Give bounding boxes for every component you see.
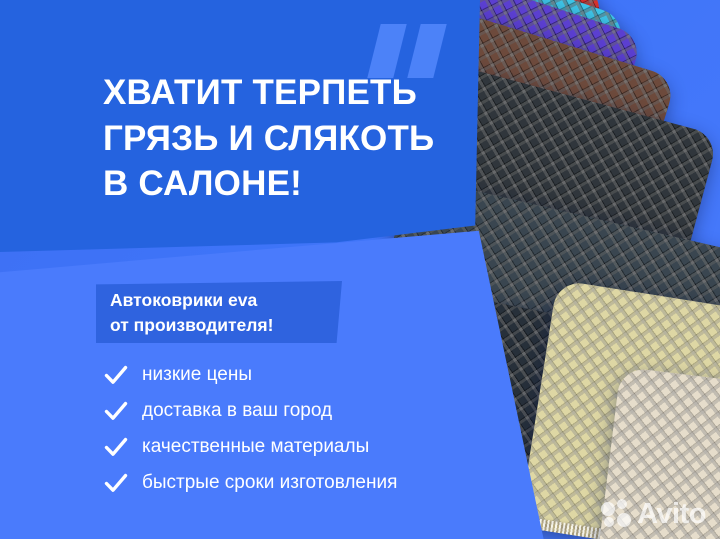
benefit-item: доставка в ваш город: [104, 394, 534, 427]
benefit-item: быстрые сроки изготовления: [104, 466, 534, 499]
subheading-line-1: Автоковрики eva: [110, 288, 340, 313]
benefit-label: качественные материалы: [142, 436, 369, 458]
headline-line-1: ХВАТИТ ТЕРПЕТЬ: [103, 70, 473, 116]
benefit-label: доставка в ваш город: [142, 400, 332, 422]
benefits-list: низкие цены доставка в ваш город качеств…: [104, 358, 534, 502]
check-icon: [104, 436, 128, 458]
subheading-text: Автоковрики eva от производителя!: [110, 288, 340, 338]
check-icon: [104, 364, 128, 386]
headline-line-2: ГРЯЗЬ И СЛЯКОТЬ: [103, 116, 473, 162]
benefit-item: низкие цены: [104, 358, 534, 391]
logo-dot: [617, 499, 627, 509]
logo-dot: [617, 513, 631, 527]
advertisement-banner: ХВАТИТ ТЕРПЕТЬ ГРЯЗЬ И СЛЯКОТЬ В САЛОНЕ!…: [0, 0, 720, 539]
check-icon: [104, 400, 128, 422]
subheading-line-2: от производителя!: [110, 313, 340, 338]
subheading-box: Автоковрики eva от производителя!: [96, 281, 342, 343]
headline: ХВАТИТ ТЕРПЕТЬ ГРЯЗЬ И СЛЯКОТЬ В САЛОНЕ!: [103, 70, 473, 207]
logo-dot: [601, 502, 615, 516]
benefit-label: низкие цены: [142, 364, 252, 386]
watermark-text: Avito: [637, 500, 706, 529]
benefit-item: качественные материалы: [104, 430, 534, 463]
avito-dots-logo-icon: [601, 499, 633, 529]
headline-line-3: В САЛОНЕ!: [103, 161, 473, 207]
benefit-label: быстрые сроки изготовления: [142, 472, 397, 494]
logo-dot: [604, 517, 614, 527]
check-icon: [104, 472, 128, 494]
avito-watermark: Avito: [601, 499, 706, 529]
